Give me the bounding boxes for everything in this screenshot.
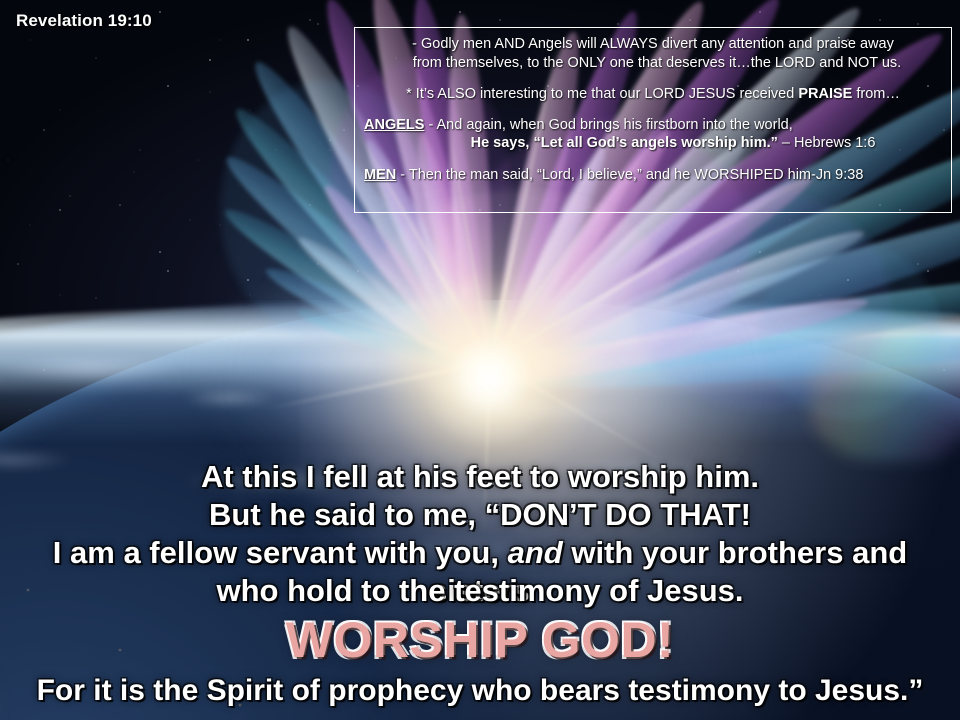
- note-bullet-2-suffix: from…: [852, 86, 900, 102]
- worship-god-headline: WORSHIP GOD!: [0, 612, 960, 668]
- verse-line-3-part-1: I am a fellow servant with you,: [53, 535, 508, 570]
- verse-line-2: But he said to me, “DON’T DO THAT!: [0, 496, 960, 534]
- slide-canvas: Revelation 19:10 - Godly men AND Angels …: [0, 0, 960, 720]
- note-angels-citation: – Hebrews 1:6: [778, 135, 876, 151]
- verse-line-3-italic: and: [508, 535, 563, 570]
- note-men-line: MEN - Then the man said, “Lord, I believ…: [364, 166, 942, 185]
- note-bullet-1-line-1: - Godly men AND Angels will ALWAYS diver…: [364, 35, 942, 54]
- verse-line-2-prefix: But he said to me, “: [209, 497, 500, 532]
- note-bullet-2: * It’s ALSO interesting to me that our L…: [364, 85, 942, 104]
- note-bullet-2-prefix: * It’s ALSO interesting to me that our L…: [406, 86, 798, 102]
- note-men-label: MEN: [364, 167, 396, 183]
- verse-line-1: At this I fell at his feet to worship hi…: [0, 458, 960, 496]
- page-title: Revelation 19:10: [16, 11, 152, 31]
- note-bullet-1-line-2: from themselves, to the ONLY one that de…: [364, 54, 942, 73]
- rainbow-flare: [810, 330, 960, 460]
- note-bullet-2-bold: PRAISE: [798, 86, 852, 102]
- note-men-text: - Then the man said, “Lord, I believe,” …: [396, 167, 863, 183]
- verse-line-4: who hold to the testimony of Jesus.: [0, 572, 960, 610]
- note-angels-line: ANGELS - And again, when God brings his …: [364, 116, 942, 135]
- verse-line-2-emphasis: DON’T DO THAT!: [500, 497, 751, 532]
- note-angels-quote: He says, “Let all God’s angels worship h…: [471, 135, 778, 151]
- note-angels-text: - And again, when God brings his firstbo…: [424, 117, 792, 133]
- commentary-note-box: - Godly men AND Angels will ALWAYS diver…: [354, 27, 952, 213]
- note-angels-quote-line: He says, “Let all God’s angels worship h…: [364, 134, 942, 153]
- verse-line-6: For it is the Spirit of prophecy who bea…: [0, 672, 960, 710]
- note-angels-label: ANGELS: [364, 117, 424, 133]
